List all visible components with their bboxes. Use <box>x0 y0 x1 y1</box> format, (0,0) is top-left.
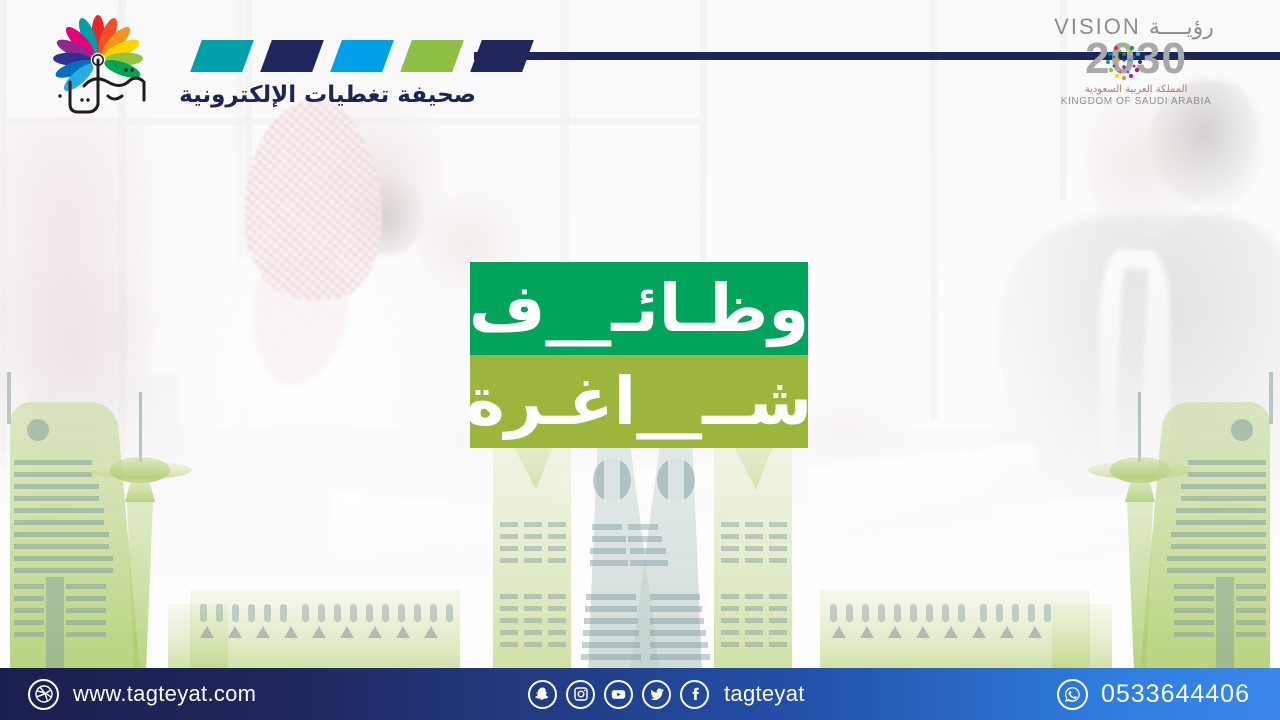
chip-blue <box>330 40 394 72</box>
chip-navy <box>260 40 324 72</box>
brand-subtitle: صحيفة تغطيات الإلكترونية <box>186 78 476 112</box>
footer-website-group[interactable]: www.tagteyat.com <box>28 679 256 710</box>
vision-english-line: KINGDOM OF SAUDI ARABIA <box>1048 96 1224 110</box>
phone-number[interactable]: 0533644406 <box>1101 680 1250 709</box>
footer-phone-group[interactable]: 0533644406 <box>1057 679 1250 710</box>
snapchat-icon[interactable] <box>528 680 557 709</box>
vision-2030-logo: VISION رؤيــــة 2030 <box>1048 14 1224 110</box>
dribbble-icon[interactable] <box>28 679 59 710</box>
banner-line-1: وظـائـ__ف <box>470 262 808 355</box>
facebook-icon[interactable] <box>680 680 709 709</box>
tagteyat-logo[interactable] <box>38 8 158 120</box>
footer-social-group: tagteyat <box>528 680 805 709</box>
twitter-icon[interactable] <box>642 680 671 709</box>
website-url[interactable]: www.tagteyat.com <box>73 681 256 707</box>
chip-green <box>400 40 464 72</box>
banner-stage: صحيفة تغطيات الإلكترونية VISION رؤيــــة… <box>0 0 1280 720</box>
saudi-emblem-dots-icon <box>1103 40 1145 82</box>
whatsapp-icon[interactable] <box>1057 679 1088 710</box>
vacant-jobs-banner: وظـائـ__ف شــ__اغـرة <box>470 262 808 448</box>
social-handle[interactable]: tagteyat <box>724 681 805 707</box>
instagram-icon[interactable] <box>566 680 595 709</box>
banner-line-2: شــ__اغـرة <box>470 355 808 448</box>
header-chip-row <box>196 40 496 72</box>
youtube-icon[interactable] <box>604 680 633 709</box>
header: صحيفة تغطيات الإلكترونية VISION رؤيــــة… <box>0 0 1280 130</box>
chip-teal <box>190 40 254 72</box>
footer-bar: www.tagteyat.com <box>0 668 1280 720</box>
